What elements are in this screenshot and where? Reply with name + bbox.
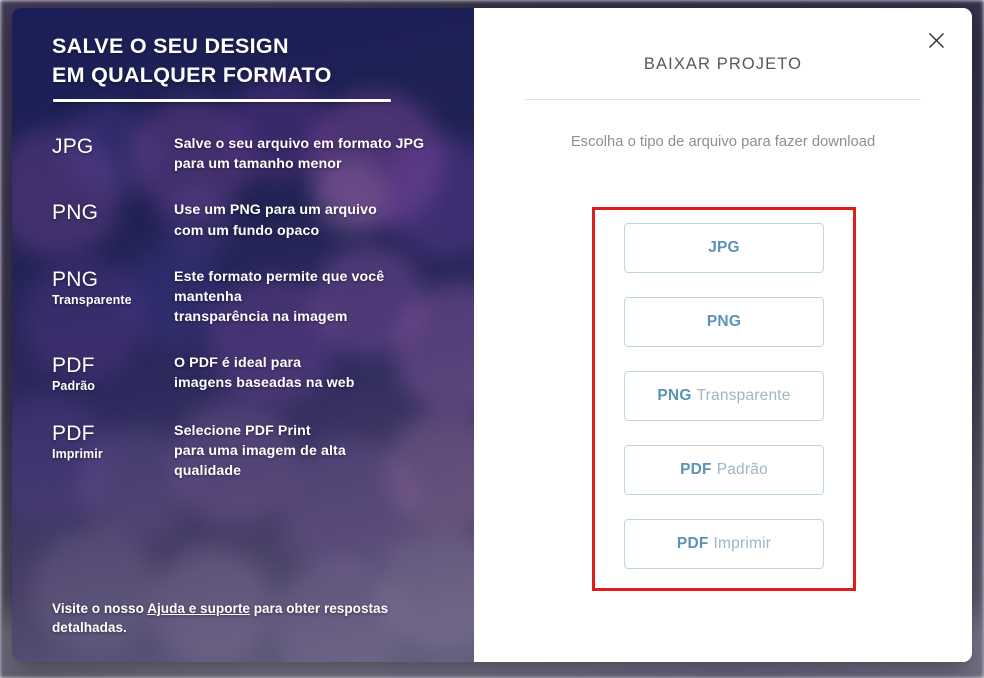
format-row: PNGUse um PNG para um arquivo com um fun… bbox=[52, 200, 446, 240]
promo-panel: SALVE O SEU DESIGN EM QUALQUER FORMATO J… bbox=[12, 8, 474, 662]
button-label-main: JPG bbox=[708, 239, 740, 257]
close-icon[interactable] bbox=[922, 26, 950, 54]
button-label-main: PNG bbox=[657, 387, 691, 405]
download-button-pdf-padrão[interactable]: PDFPadrão bbox=[624, 445, 824, 495]
format-name: PNGTransparente bbox=[52, 267, 174, 327]
format-name-main: PNG bbox=[52, 201, 174, 225]
download-modal: SALVE O SEU DESIGN EM QUALQUER FORMATO J… bbox=[12, 8, 972, 662]
format-name-sub: Imprimir bbox=[52, 446, 174, 463]
button-label-main: PNG bbox=[707, 313, 741, 331]
format-name-main: PDF bbox=[52, 354, 174, 378]
title-divider bbox=[525, 99, 921, 100]
panel-subtitle: Escolha o tipo de arquivo para fazer dow… bbox=[558, 132, 888, 153]
promo-title-line2: EM QUALQUER FORMATO bbox=[52, 61, 446, 90]
footer-prefix: Visite o nosso bbox=[52, 601, 147, 616]
promo-content: SALVE O SEU DESIGN EM QUALQUER FORMATO J… bbox=[12, 8, 474, 662]
format-button-group: JPGPNGPNGTransparentePDFPadrãoPDFImprimi… bbox=[624, 223, 824, 569]
format-description: Salve o seu arquivo em formato JPG para … bbox=[174, 134, 424, 174]
download-button-png-transparente[interactable]: PNGTransparente bbox=[624, 371, 824, 421]
promo-title: SALVE O SEU DESIGN EM QUALQUER FORMATO bbox=[52, 32, 446, 90]
button-label-main: PDF bbox=[680, 461, 712, 479]
download-button-jpg[interactable]: JPG bbox=[624, 223, 824, 273]
download-panel: BAIXAR PROJETO Escolha o tipo de arquivo… bbox=[474, 8, 972, 662]
page-title: BAIXAR PROJETO bbox=[474, 8, 972, 74]
promo-title-line1: SALVE O SEU DESIGN bbox=[52, 32, 446, 61]
help-support-link[interactable]: Ajuda e suporte bbox=[147, 601, 250, 616]
download-button-png[interactable]: PNG bbox=[624, 297, 824, 347]
format-name-sub: Padrão bbox=[52, 378, 174, 395]
format-row: PDFPadrãoO PDF é ideal para imagens base… bbox=[52, 353, 446, 395]
format-name: PDFImprimir bbox=[52, 421, 174, 481]
button-label-sub: Imprimir bbox=[714, 535, 772, 553]
format-description: Selecione PDF Print para uma imagem de a… bbox=[174, 421, 346, 481]
format-description-list: JPGSalve o seu arquivo em formato JPG pa… bbox=[52, 134, 446, 482]
format-row: JPGSalve o seu arquivo em formato JPG pa… bbox=[52, 134, 446, 174]
format-name-main: JPG bbox=[52, 135, 174, 159]
format-name: JPG bbox=[52, 134, 174, 174]
format-description: Use um PNG para um arquivo com um fundo … bbox=[174, 200, 377, 240]
button-label-sub: Transparente bbox=[697, 387, 791, 405]
promo-footer: Visite o nosso Ajuda e suporte para obte… bbox=[52, 599, 444, 638]
button-label-main: PDF bbox=[677, 535, 709, 553]
format-row: PDFImprimirSelecione PDF Print para uma … bbox=[52, 421, 446, 481]
promo-title-underline bbox=[53, 99, 391, 102]
format-name-sub: Transparente bbox=[52, 292, 174, 309]
format-name-main: PDF bbox=[52, 422, 174, 446]
format-name: PNG bbox=[52, 200, 174, 240]
format-name: PDFPadrão bbox=[52, 353, 174, 395]
button-label-sub: Padrão bbox=[717, 461, 768, 479]
download-button-pdf-imprimir[interactable]: PDFImprimir bbox=[624, 519, 824, 569]
format-description: Este formato permite que você mantenha t… bbox=[174, 267, 446, 327]
format-row: PNGTransparenteEste formato permite que … bbox=[52, 267, 446, 327]
format-description: O PDF é ideal para imagens baseadas na w… bbox=[174, 353, 355, 395]
format-name-main: PNG bbox=[52, 268, 174, 292]
